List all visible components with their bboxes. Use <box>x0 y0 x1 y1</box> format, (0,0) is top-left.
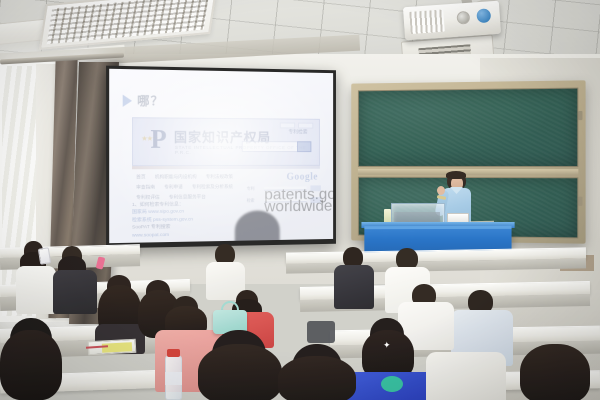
student-body <box>426 352 506 400</box>
screen-surface: 哪？ ★★★ P 国家知识产权局 STATE INTELLECTUAL PROP… <box>109 69 333 243</box>
star-hairclip-icon: ✦ <box>383 341 392 350</box>
head-silhouette-shadow <box>235 210 280 243</box>
student-body <box>16 266 56 314</box>
dark-bag-icon <box>307 321 335 343</box>
projector-lens <box>456 11 470 25</box>
projector-vents <box>409 10 444 34</box>
notebook-page <box>102 342 132 353</box>
board-clip <box>578 197 582 206</box>
projector-glare <box>109 69 333 243</box>
collar-detail <box>381 376 403 392</box>
blackboard-panel-top <box>358 88 578 168</box>
student-hair <box>0 330 62 400</box>
student-hair <box>520 344 590 400</box>
projector-indicator <box>476 8 491 23</box>
bottle-label <box>165 372 182 385</box>
classroom-photo: 哪？ ★★★ P 国家知识产权局 STATE INTELLECTUAL PROP… <box>0 0 600 400</box>
student-hair <box>198 344 282 400</box>
student-body <box>53 270 97 314</box>
projector-icon <box>403 1 501 41</box>
smartphone-icon <box>38 247 51 265</box>
presenter-hair <box>446 171 466 179</box>
student-body <box>334 265 374 309</box>
projection-screen: 哪？ ★★★ P 国家知识产权局 STATE INTELLECTUAL PROP… <box>106 66 336 249</box>
blackboard-divider <box>358 169 578 175</box>
student-hair <box>278 356 356 400</box>
presenter-hand <box>437 186 445 195</box>
board-clip <box>578 111 582 120</box>
bottle-cap <box>167 349 180 357</box>
